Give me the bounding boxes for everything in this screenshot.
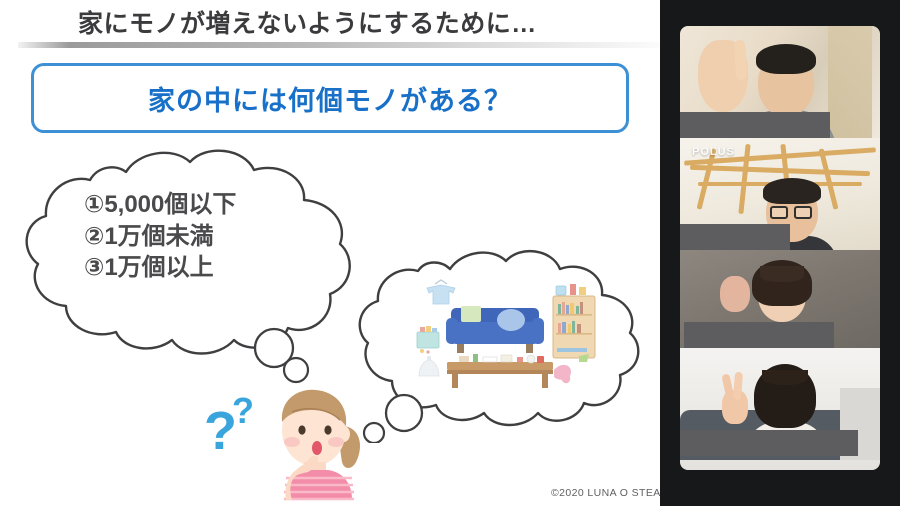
title-divider [18,42,660,48]
participant-fringe [762,370,808,385]
participant-hair [756,44,816,74]
thinking-woman-illustration [262,382,372,506]
floor-lamp-icon [419,356,439,376]
participant-hair [763,178,821,204]
participant-name-bar-3 [684,322,834,348]
video-conference-panel: POLUS [660,0,900,506]
copyright-text: ©2020 LUNA O STEA [551,487,660,499]
background-wall [828,26,872,138]
polus-watermark: POLUS [692,146,735,158]
participant-name-bar-2 [680,224,790,250]
blue-sofa-icon [446,306,544,353]
participant-name-bar-1 [680,112,830,138]
video-tile-participant-3-active[interactable] [680,250,880,348]
question-callout-text: 家の中には何個モノがある？ [148,79,512,118]
slide-title: 家にモノが増えないようにするために… [78,4,537,40]
glasses-left-lens [770,206,788,219]
glasses-right-lens [794,206,812,219]
video-tile-participant-2[interactable]: POLUS [680,138,880,250]
answer-options-list: ①5,000個以下 ②1万個未満 ③1万個以上 [84,190,334,284]
bookshelf-icon [553,284,595,358]
participant-fringe [760,266,804,282]
participant-name-bar-4 [680,430,858,456]
toy-box-icon [417,326,439,354]
coffee-table-icon [447,354,553,388]
video-tile-participant-4[interactable] [680,348,880,470]
slipper-icon [554,365,571,383]
option-1: ①5,000個以下 [84,190,334,221]
presentation-slide: 家にモノが増えないようにするために… 家の中には何個モノがある？ ①5,000個… [0,0,660,506]
raised-hand [698,40,748,112]
left-cloud-trail-bubbles [246,326,316,388]
raised-hand [720,276,750,312]
option-2: ②1万個未満 [84,222,334,253]
question-callout-box: 家の中には何個モノがある？ [31,63,629,133]
video-tile-participant-1[interactable] [680,26,880,138]
living-room-illustration [413,278,598,393]
svg-text:?: ? [232,390,254,431]
hanging-shirt-icon [427,280,455,304]
option-3: ③1万個以上 [84,253,334,284]
